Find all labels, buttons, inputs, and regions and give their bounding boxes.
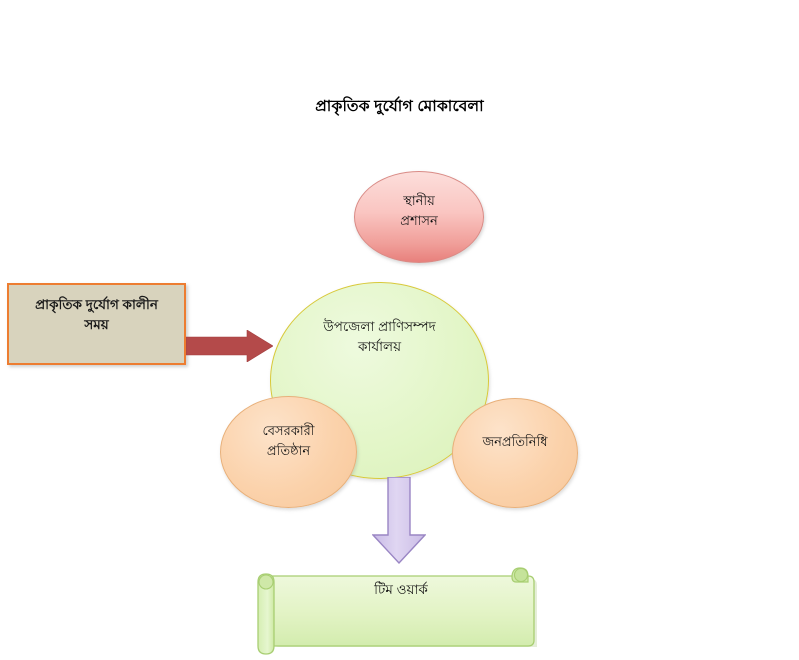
node-upazila-livestock-office-label-line2: কার্যালয় (358, 339, 401, 354)
node-private-institution-label-line2: প্রতিষ্ঠান (267, 443, 310, 458)
node-public-representative-label: জনপ্রতিনিধি (459, 432, 571, 452)
node-local-administration-label-line2: প্রশাসন (400, 213, 438, 228)
node-upazila-livestock-office-label-line1: উপজেলা প্রাণিসম্পদ (323, 319, 436, 334)
node-local-administration-label: স্থানীয় প্রশাসন (363, 191, 475, 231)
node-disaster-period-label: প্রাকৃতিক দুর্যোগ কালীন সময় (15, 295, 178, 334)
node-disaster-period-box[interactable]: প্রাকৃতিক দুর্যোগ কালীন সময় (7, 283, 186, 365)
node-local-administration[interactable]: স্থানীয় প্রশাসন (354, 171, 484, 263)
node-disaster-period-label-line1: প্রাকৃতিক দুর্যোগ কালীন (35, 297, 158, 312)
node-team-work-banner[interactable]: টিম ওয়ার্ক (250, 562, 540, 658)
node-private-institution-label-line1: বেসরকারী (263, 423, 315, 438)
node-team-work-label: টিম ওয়ার্ক (280, 579, 522, 602)
diagram-canvas: প্রাকৃতিক দুর্যোগ মোকাবেলা প্রাকৃতিক দুর… (0, 0, 799, 660)
down-arrow-connector (372, 477, 426, 564)
node-local-administration-label-line1: স্থানীয় (403, 193, 435, 208)
node-private-institution[interactable]: বেসরকারী প্রতিষ্ঠান (220, 396, 357, 508)
node-upazila-livestock-office-label: উপজেলা প্রাণিসম্পদ কার্যালয় (285, 317, 474, 358)
right-arrow-connector (186, 330, 273, 362)
node-private-institution-label: বেসরকারী প্রতিষ্ঠান (227, 421, 350, 460)
node-public-representative[interactable]: জনপ্রতিনিধি (452, 398, 578, 508)
page-title: প্রাকৃতিক দুর্যোগ মোকাবেলা (0, 94, 799, 120)
node-public-representative-label-line1: জনপ্রতিনিধি (482, 434, 547, 449)
node-disaster-period-label-line2: সময় (84, 317, 108, 332)
